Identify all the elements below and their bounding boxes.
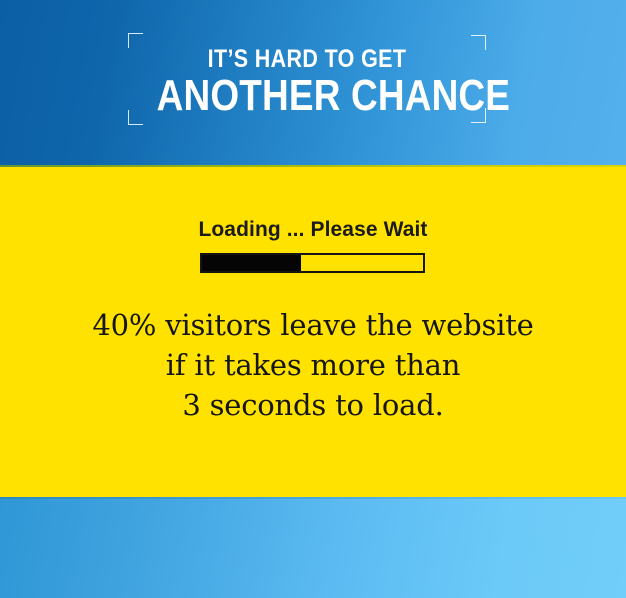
- statistic-line-3: 3 seconds to load.: [0, 385, 626, 425]
- statistic-line-1: 40% visitors leave the website: [0, 305, 626, 345]
- hero-title: ANOTHER CHANCE: [157, 72, 458, 120]
- footer-top-divider: [0, 497, 626, 499]
- footer-band: [0, 497, 626, 598]
- statistic-message: 40% visitors leave the website if it tak…: [0, 305, 626, 425]
- loading-status-label: Loading ... Please Wait: [0, 218, 626, 242]
- hero-bracket-frame: IT’S HARD TO GET ANOTHER CHANCE: [128, 33, 486, 125]
- hero-banner: IT’S HARD TO GET ANOTHER CHANCE: [0, 0, 626, 165]
- loading-progress-bar: [200, 253, 425, 273]
- loading-progress-fill: [202, 255, 301, 271]
- statistic-line-2: if it takes more than: [0, 345, 626, 385]
- hero-subtitle: IT’S HARD TO GET: [153, 44, 461, 74]
- content-panel: Loading ... Please Wait 40% visitors lea…: [0, 165, 626, 497]
- panel-top-divider: [0, 165, 626, 167]
- infographic-slide: IT’S HARD TO GET ANOTHER CHANCE Loading …: [0, 0, 626, 598]
- hero-text-block: IT’S HARD TO GET ANOTHER CHANCE: [128, 33, 486, 120]
